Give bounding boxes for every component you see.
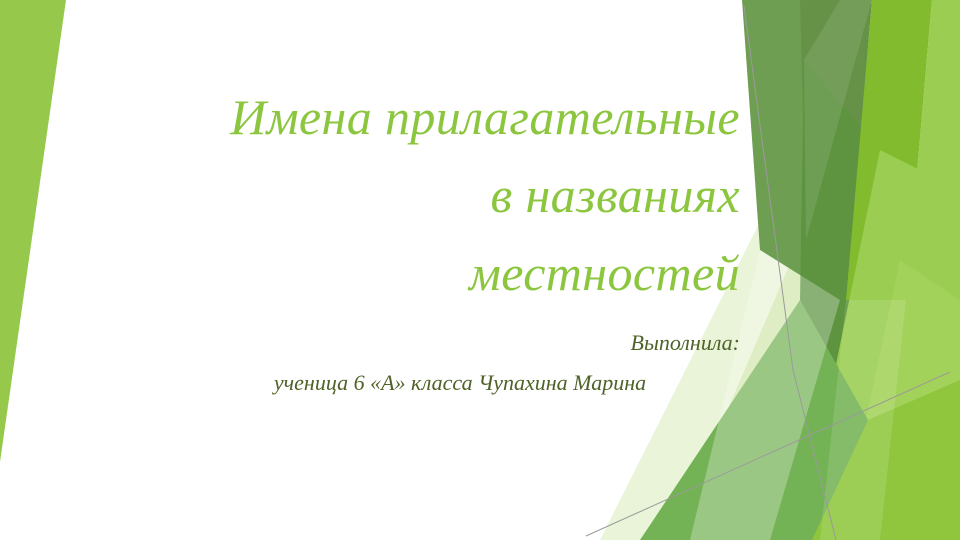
slide-title[interactable]: Имена прилагательные в названиях местнос… [60, 78, 740, 312]
title-line-1: Имена прилагательные [60, 78, 740, 156]
title-line-2: в названиях [60, 156, 740, 234]
subtitle-line-author-label: Выполнила: [180, 326, 740, 360]
slide-subtitle[interactable]: Выполнила: ученица 6 «А» класса Чупахина… [180, 326, 740, 400]
presentation-slide: Имена прилагательные в названиях местнос… [0, 0, 960, 540]
slide-text-layer: Имена прилагательные в названиях местнос… [0, 0, 960, 540]
subtitle-line-author-name: ученица 6 «А» класса Чупахина Марина [180, 360, 740, 400]
title-line-3: местностей [60, 234, 740, 312]
